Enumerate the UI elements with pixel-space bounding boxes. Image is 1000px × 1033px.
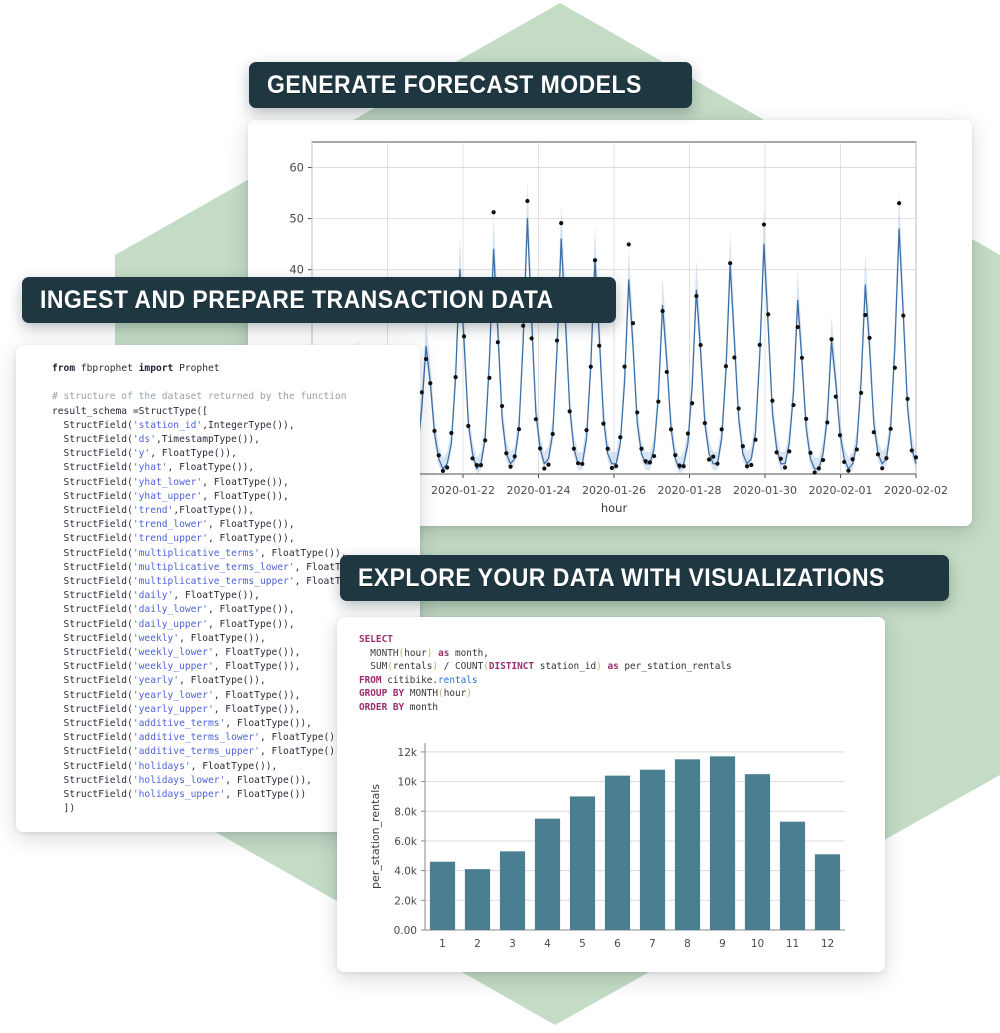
svg-text:11: 11 [786, 938, 799, 950]
banner-label: INGEST AND PREPARE TRANSACTION DATA [40, 288, 554, 313]
banner-ingest-and-prepare-transaction-data[interactable]: INGEST AND PREPARE TRANSACTION DATA [22, 277, 616, 323]
svg-text:2.0k: 2.0k [394, 895, 418, 907]
svg-text:12k: 12k [398, 747, 418, 759]
svg-text:per_station_rentals: per_station_rentals [369, 784, 382, 889]
python-code-block[interactable]: from fbprophet import Prophet # structur… [52, 362, 381, 817]
svg-text:6.0k: 6.0k [394, 836, 418, 848]
svg-text:2020-01-24: 2020-01-24 [507, 484, 571, 497]
svg-text:50: 50 [289, 212, 304, 226]
svg-text:hour: hour [601, 501, 628, 515]
banner-generate-forecast-models[interactable]: GENERATE FORECAST MODELS [249, 62, 692, 108]
svg-text:0.00: 0.00 [394, 925, 417, 937]
svg-text:2020-01-26: 2020-01-26 [582, 484, 646, 497]
svg-text:2020-02-01: 2020-02-01 [809, 484, 873, 497]
svg-text:6: 6 [614, 938, 621, 950]
svg-text:1: 1 [439, 938, 446, 950]
svg-text:8: 8 [684, 938, 691, 950]
rentals-bar-chart: 0.002.0k4.0k6.0k8.0k10k12k12345678910111… [337, 725, 885, 972]
sql-visualization-card: SELECT MONTH(hour) as month, SUM(rentals… [337, 617, 885, 972]
marketing-graphic: 4050602020-01-182020-01-202020-01-222020… [0, 0, 1000, 1033]
svg-text:9: 9 [719, 938, 726, 950]
svg-text:7: 7 [649, 938, 656, 950]
svg-text:4: 4 [544, 938, 551, 950]
svg-text:8.0k: 8.0k [394, 806, 418, 818]
svg-text:2020-02-02: 2020-02-02 [884, 484, 948, 497]
svg-text:4.0k: 4.0k [394, 866, 418, 878]
svg-text:2: 2 [474, 938, 481, 950]
svg-text:2020-01-22: 2020-01-22 [431, 484, 495, 497]
svg-text:10: 10 [751, 938, 764, 950]
svg-text:2020-01-28: 2020-01-28 [658, 484, 722, 497]
banner-label: GENERATE FORECAST MODELS [267, 73, 642, 98]
svg-text:10k: 10k [398, 777, 418, 789]
banner-label: EXPLORE YOUR DATA WITH VISUALIZATIONS [358, 566, 885, 591]
svg-text:5: 5 [579, 938, 586, 950]
svg-text:2020-01-30: 2020-01-30 [733, 484, 797, 497]
sql-code-block[interactable]: SELECT MONTH(hour) as month, SUM(rentals… [359, 633, 732, 715]
banner-explore-your-data-with-visualizations[interactable]: EXPLORE YOUR DATA WITH VISUALIZATIONS [340, 555, 949, 601]
svg-text:40: 40 [289, 263, 304, 277]
svg-text:60: 60 [289, 161, 304, 175]
svg-text:3: 3 [509, 938, 516, 950]
svg-text:12: 12 [821, 938, 834, 950]
